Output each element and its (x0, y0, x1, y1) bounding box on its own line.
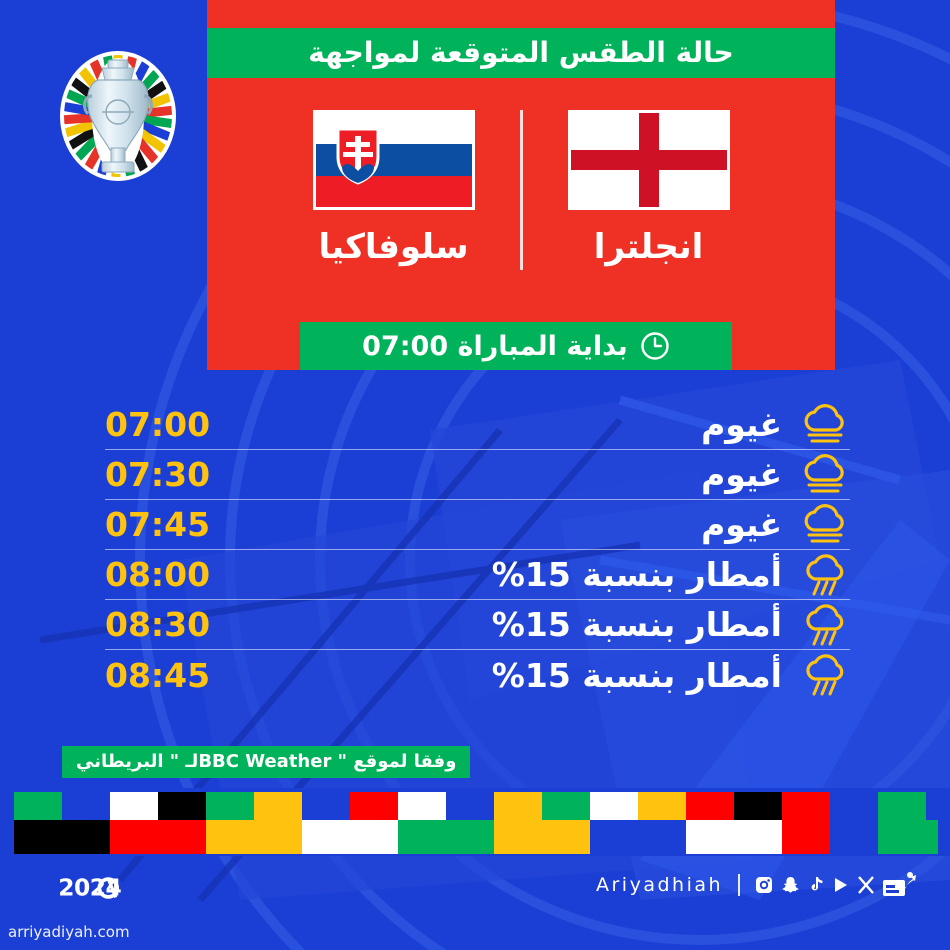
slovakia-coat-of-arms (336, 127, 380, 185)
svg-text:2024: 2024 (58, 874, 121, 901)
team-home: سلوفاكيا (274, 110, 514, 264)
england-flag (568, 110, 730, 210)
euro-2024-wordmark: EUR 2024 (56, 874, 243, 902)
england-flag-horizontal-bar (571, 150, 727, 170)
forecast-row: أمطار بنسبة 15% 08:30 (105, 600, 850, 650)
forecast-condition: أمطار بنسبة 15% (210, 558, 790, 591)
forecast-row: أمطار بنسبة 15% 08:45 (105, 650, 850, 700)
slovakia-flag (313, 110, 475, 210)
forecast-condition: أمطار بنسبة 15% (210, 659, 790, 692)
teams-divider (520, 110, 523, 270)
forecast-time: 07:30 (105, 458, 210, 491)
team-home-name: سلوفاكيا (318, 230, 468, 264)
clock-icon (640, 331, 670, 361)
forecast-time: 08:00 (105, 558, 210, 591)
forecast-row: غيوم 07:45 (105, 500, 850, 550)
tiktok-icon[interactable] (808, 876, 824, 894)
footer: EUR 2024 (0, 862, 950, 924)
cloud-haze-icon (798, 504, 850, 546)
header-title-banner: حالة الطقس المتوقعة لمواجهة (207, 28, 835, 78)
youtube-icon[interactable] (833, 876, 849, 894)
cloud-rain-icon (798, 554, 850, 596)
footer-divider (738, 874, 740, 896)
team-away-name: انجلترا (594, 230, 704, 264)
kickoff-banner: بداية المباراة 07:00 (300, 322, 732, 370)
forecast-time: 08:30 (105, 608, 210, 641)
instagram-icon[interactable] (755, 876, 773, 894)
snapchat-icon[interactable] (782, 876, 799, 894)
cloud-rain-icon (798, 654, 850, 696)
cloud-haze-icon (798, 404, 850, 446)
forecast-time: 07:45 (105, 508, 210, 541)
forecast-time: 07:00 (105, 408, 210, 441)
euro-2024-trophy-logo (58, 50, 178, 182)
forecast-condition: غيوم (210, 408, 790, 441)
teams-row: انجلترا سلوفاكيا (207, 110, 835, 290)
forecast-list: غيوم 07:00 غيوم 07:30 غيوم 07:45 (105, 400, 850, 700)
team-away: انجلترا (529, 110, 769, 264)
page-title: حالة الطقس المتوقعة لمواجهة (308, 39, 734, 67)
social-bar: Ariyadhiah (596, 872, 917, 898)
cloud-haze-icon (798, 454, 850, 496)
cloud-rain-icon (798, 604, 850, 646)
source-banner: وفقا لموقع " BBC Weatherلـ " البريطاني (62, 746, 470, 778)
forecast-condition: أمطار بنسبة 15% (210, 608, 790, 641)
forecast-row: غيوم 07:00 (105, 400, 850, 450)
brand-name: Ariyadhiah (596, 876, 723, 895)
x-icon[interactable] (858, 876, 874, 894)
source-text: وفقا لموقع " BBC Weatherلـ " البريطاني (76, 753, 456, 771)
forecast-row: غيوم 07:30 (105, 450, 850, 500)
forecast-time: 08:45 (105, 659, 210, 692)
arriyadiyah-app-icon[interactable] (883, 872, 917, 898)
forecast-row: أمطار بنسبة 15% 08:00 (105, 550, 850, 600)
watermark: arriyadiyah.com (8, 925, 130, 940)
forecast-condition: غيوم (210, 458, 790, 491)
kickoff-label: بداية المباراة 07:00 (362, 333, 628, 360)
forecast-condition: غيوم (210, 508, 790, 541)
euro-color-mosaic-strip (0, 788, 950, 856)
